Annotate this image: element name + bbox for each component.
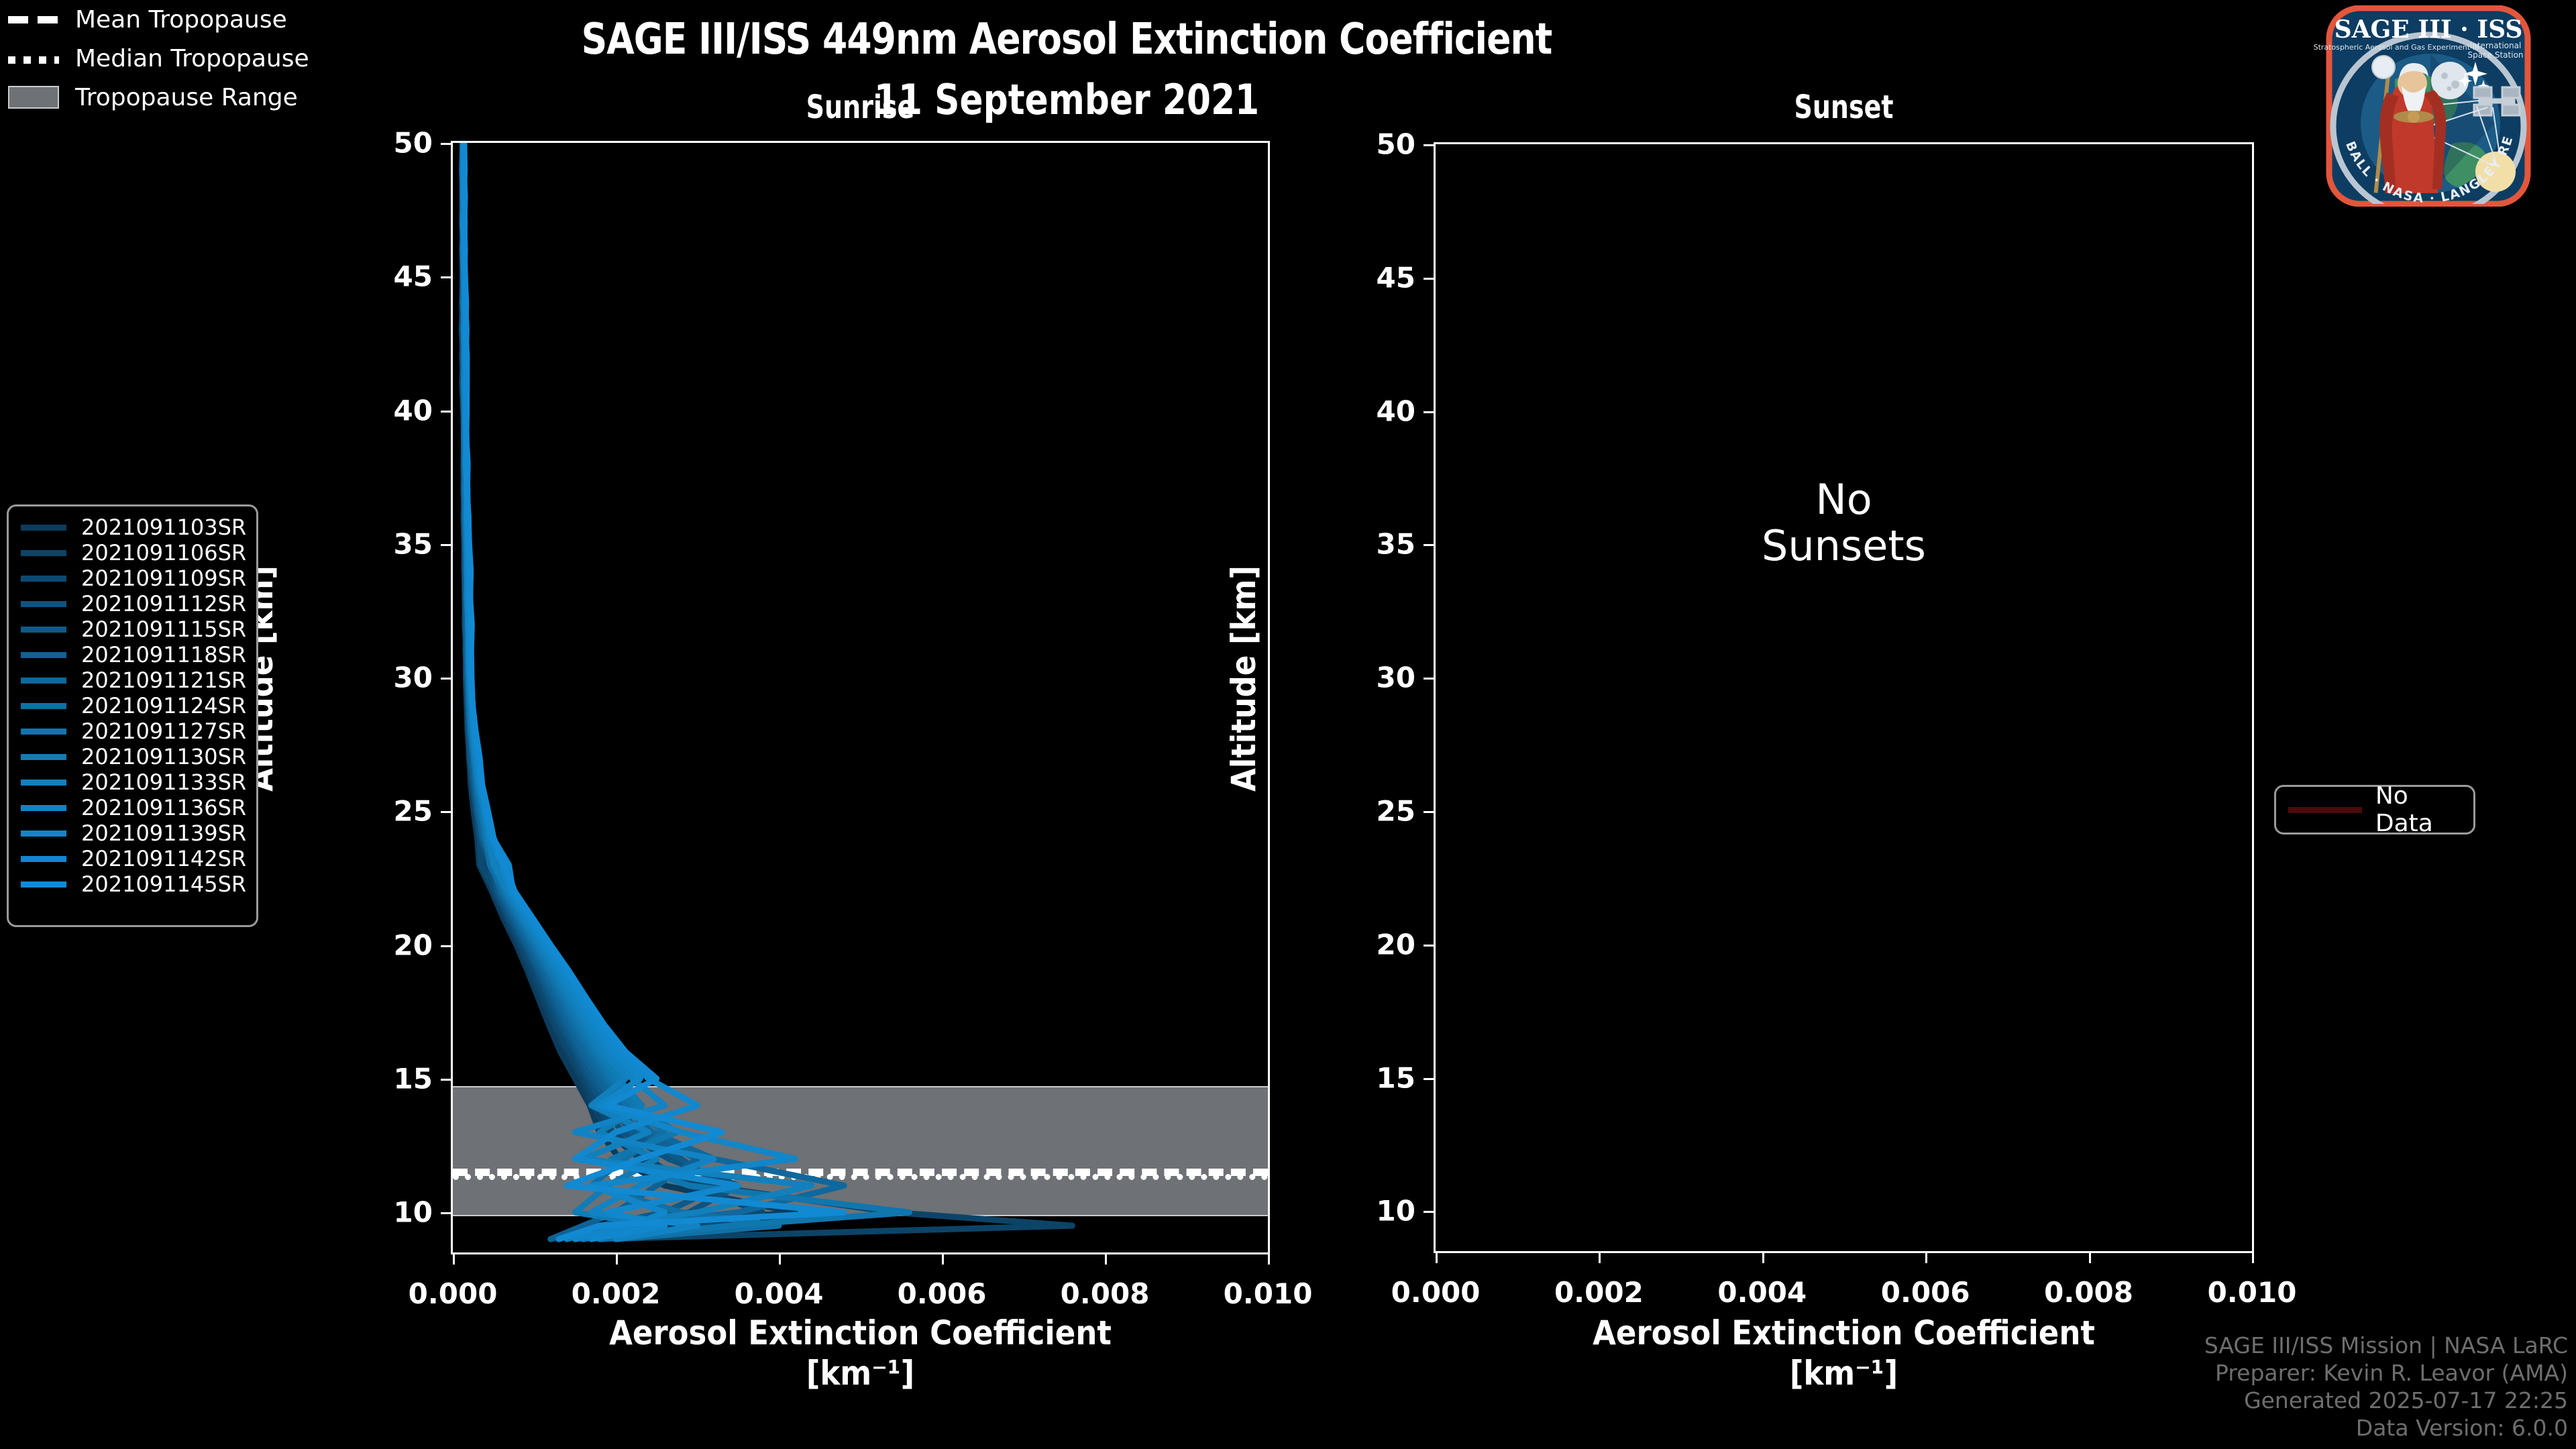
logo-subtitle-right-2: Space Station [2467, 50, 2523, 60]
y-tick [441, 411, 453, 413]
no-data-line-icon [2288, 807, 2362, 813]
x-tick-label: 0.006 [868, 1277, 1016, 1310]
y-tick-label: 35 [366, 527, 433, 560]
y-tick [1424, 945, 1436, 947]
x-tick-label: 0.004 [705, 1277, 853, 1310]
x-tick [453, 1252, 455, 1265]
legend-line-icon [21, 652, 66, 658]
credit-data-version: Data Version: 6.0.0 [2204, 1415, 2568, 1442]
no-sunsets-line1: No [1436, 476, 2252, 523]
legend-line-icon [21, 627, 66, 633]
y-tick [441, 1079, 453, 1081]
y-tick-label: 45 [1348, 261, 1415, 294]
y-tick-label: 15 [1348, 1061, 1415, 1094]
legend-line-icon [21, 830, 66, 837]
legend-label: 2021091139SR [81, 820, 246, 846]
legend-item-2021091115sr[interactable]: 2021091115SR [9, 616, 256, 642]
left-x-axis-title: Aerosol Extinction Coefficient [451, 1313, 1270, 1352]
x-tick-label: 0.000 [379, 1277, 527, 1310]
x-tick [2089, 1251, 2091, 1263]
legend-line-icon [21, 550, 66, 556]
logo-subtitle-left: Stratospheric Aerosol and Gas Experiment… [2314, 43, 2479, 52]
y-tick-label: 30 [366, 661, 433, 694]
y-tick [1424, 278, 1436, 280]
y-tick-label: 30 [1348, 661, 1415, 694]
x-tick-label: 0.010 [1194, 1277, 1342, 1310]
legend-label: 2021091127SR [81, 718, 246, 744]
sunrise-plot-area [453, 143, 1268, 1252]
legend-label: 2021091133SR [81, 769, 246, 795]
no-sunsets-line2: Sunsets [1436, 523, 2252, 569]
series-legend[interactable]: 2021091103SR2021091106SR2021091109SR2021… [7, 504, 258, 927]
y-tick [441, 143, 453, 145]
legend-label: 2021091145SR [81, 871, 246, 897]
legend-line-icon [21, 754, 66, 760]
legend-item-2021091118sr[interactable]: 2021091118SR [9, 642, 256, 667]
no-data-legend[interactable]: No Data [2274, 785, 2475, 835]
profile-line [462, 143, 722, 1239]
x-tick-label: 0.010 [2178, 1276, 2326, 1309]
x-tick-label: 0.006 [1851, 1276, 1999, 1309]
sunset-panel-label: Sunset [1483, 89, 2204, 126]
legend-line-icon [21, 729, 66, 735]
logo-title: SAGE III · ISS [2334, 15, 2523, 44]
legend-line-icon [21, 703, 66, 709]
legend-item-2021091106sr[interactable]: 2021091106SR [9, 540, 256, 566]
x-tick [779, 1252, 781, 1265]
y-tick-label: 20 [366, 928, 433, 961]
sunrise-plot: 101520253035404550 0.0000.0020.0040.0060… [451, 141, 1270, 1254]
y-tick-label: 35 [1348, 528, 1415, 561]
dashed-line-icon [8, 12, 59, 27]
legend-item-2021091142sr[interactable]: 2021091142SR [9, 846, 256, 871]
sunset-plot-area: No Sunsets [1436, 144, 2252, 1251]
legend-item-2021091109sr[interactable]: 2021091109SR [9, 566, 256, 591]
y-tick-label: 15 [366, 1062, 433, 1095]
x-tick [942, 1252, 944, 1265]
y-tick [1424, 144, 1436, 146]
y-tick [1424, 1078, 1436, 1080]
legend-line-icon [21, 881, 66, 888]
range-swatch-icon [8, 90, 59, 105]
logo-subtitle-right-1: International [2470, 41, 2522, 50]
legend-item-2021091124sr[interactable]: 2021091124SR [9, 693, 256, 718]
x-tick [2252, 1251, 2254, 1263]
x-tick [1599, 1251, 1601, 1263]
right-x-axis-units: [km⁻¹] [1434, 1354, 2254, 1393]
x-tick [1925, 1251, 1927, 1263]
x-tick [1105, 1252, 1107, 1265]
profile-line [464, 143, 910, 1239]
legend-label: 2021091115SR [81, 616, 246, 642]
y-tick-label: 10 [1348, 1195, 1415, 1228]
y-tick-label: 45 [366, 260, 433, 293]
dotted-line-icon [8, 51, 59, 66]
no-data-label: No Data [2375, 782, 2473, 837]
left-x-axis-units: [km⁻¹] [451, 1354, 1270, 1393]
credit-preparer: Preparer: Kevin R. Leavor (AMA) [2204, 1360, 2568, 1387]
profile-line [462, 143, 1073, 1239]
legend-line-icon [21, 856, 66, 862]
y-tick [1424, 678, 1436, 680]
legend-label: 2021091103SR [81, 515, 246, 540]
legend-line-icon [21, 601, 66, 607]
legend-label: 2021091109SR [81, 566, 246, 591]
x-tick-label: 0.002 [1525, 1276, 1672, 1309]
right-y-axis-title: Altitude [km] [1224, 566, 1263, 792]
y-tick [441, 945, 453, 947]
legend-item-2021091130sr[interactable]: 2021091130SR [9, 744, 256, 769]
y-tick-label: 25 [366, 795, 433, 828]
x-tick-label: 0.008 [2015, 1276, 2163, 1309]
page-title: SAGE III/ISS 449nm Aerosol Extinction Co… [74, 15, 2058, 64]
no-sunsets-message: No Sunsets [1436, 476, 2252, 570]
legend-label: 2021091130SR [81, 744, 246, 769]
legend-item-2021091145sr[interactable]: 2021091145SR [9, 871, 256, 897]
x-tick [1436, 1251, 1438, 1263]
y-tick [441, 276, 453, 278]
sunrise-panel-label: Sunrise [500, 89, 1220, 126]
y-tick-label: 50 [366, 127, 433, 160]
extinction-profile-curves [453, 143, 1268, 1252]
legend-item-2021091112sr[interactable]: 2021091112SR [9, 591, 256, 616]
legend-label: 2021091136SR [81, 795, 246, 820]
legend-item-2021091136sr[interactable]: 2021091136SR [9, 795, 256, 820]
y-tick-label: 50 [1348, 128, 1415, 161]
legend-item-2021091133sr[interactable]: 2021091133SR [9, 769, 256, 795]
sage-iii-iss-mission-patch-logo: BALL · NASA · LANGLEY RESEARCH CENTER · … [2294, 5, 2563, 207]
x-tick-label: 0.002 [542, 1277, 690, 1310]
y-tick [441, 678, 453, 680]
y-tick [441, 1212, 453, 1214]
legend-item-2021091139sr[interactable]: 2021091139SR [9, 820, 256, 846]
y-tick-label: 20 [1348, 928, 1415, 961]
legend-line-icon [21, 576, 66, 582]
legend-label: 2021091121SR [81, 667, 246, 693]
x-tick [616, 1252, 618, 1265]
legend-line-icon [21, 525, 66, 531]
profile-line [464, 143, 845, 1239]
y-tick [1424, 811, 1436, 813]
x-tick-label: 0.004 [1688, 1276, 1836, 1309]
legend-label: 2021091124SR [81, 693, 246, 718]
y-tick-label: 10 [366, 1196, 433, 1229]
y-tick [1424, 1211, 1436, 1213]
y-tick-label: 40 [366, 394, 433, 427]
legend-item-2021091121sr[interactable]: 2021091121SR [9, 667, 256, 693]
right-x-axis-title: Aerosol Extinction Coefficient [1434, 1313, 2254, 1352]
legend-label: 2021091118SR [81, 642, 246, 667]
legend-label: 2021091106SR [81, 540, 246, 566]
legend-label: 2021091112SR [81, 591, 246, 616]
x-tick [1268, 1252, 1270, 1265]
credits-block: SAGE III/ISS Mission | NASA LaRC Prepare… [2204, 1332, 2568, 1442]
legend-line-icon [21, 780, 66, 786]
legend-item-2021091103sr[interactable]: 2021091103SR [9, 515, 256, 540]
sunset-plot: No Sunsets 101520253035404550 0.0000.002… [1434, 142, 2254, 1253]
legend-line-icon [21, 805, 66, 811]
x-tick [1762, 1251, 1764, 1263]
credit-generated: Generated 2025-07-17 22:25 [2204, 1387, 2568, 1415]
credit-mission: SAGE III/ISS Mission | NASA LaRC [2204, 1332, 2568, 1360]
y-tick [1424, 411, 1436, 413]
legend-label: 2021091142SR [81, 846, 246, 871]
y-tick [441, 544, 453, 546]
y-tick-label: 25 [1348, 794, 1415, 827]
y-tick-label: 40 [1348, 394, 1415, 427]
y-tick [441, 811, 453, 813]
x-tick-label: 0.008 [1031, 1277, 1179, 1310]
legend-item-2021091127sr[interactable]: 2021091127SR [9, 718, 256, 744]
y-tick [1424, 544, 1436, 546]
legend-line-icon [21, 678, 66, 684]
x-tick-label: 0.000 [1362, 1276, 1509, 1309]
